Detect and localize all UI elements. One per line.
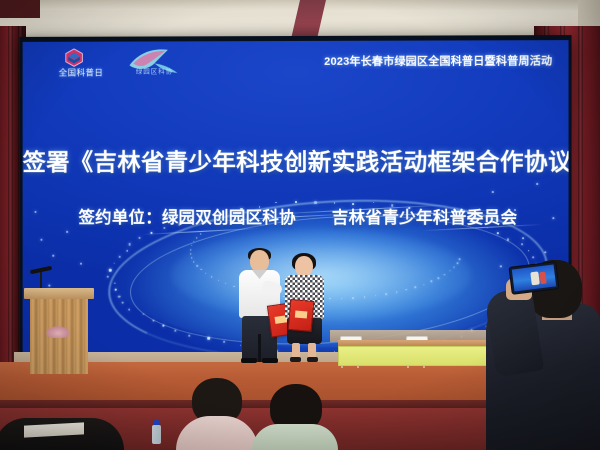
secondary-event-logo-text: 绿园区科协 [126,65,184,75]
screen-light-dot [453,266,454,267]
audience-shoulders [176,416,258,450]
screen-title-main: 签署《吉林省青少年科技创新实践活动框架合作协议》 [23,143,569,177]
screen-title-sub: 签约单位：绿园双创园区科协 吉林省青少年科普委员会 [23,204,569,228]
screen-header-row: 全国科普日 绿园区科协 2023年长春市绿园区全国科普日暨科普周活动 [23,40,569,86]
screen-light-dot [66,231,67,232]
screen-light-dot [396,291,397,292]
woman-head [295,256,313,277]
audience-shoulders [252,424,338,450]
screen-header-banner: 2023年长春市绿园区全国科普日暨科普周活动 [324,52,552,69]
audience-member-1 [176,378,258,450]
screen-light-dot [497,233,499,235]
screen-light-dot [196,237,197,238]
national-science-day-logo-text: 全国科普日 [42,66,119,78]
audience-photographer [486,258,600,450]
screen-light-dot [163,325,165,327]
screen-light-dot [193,241,194,242]
screen-light-dot [444,274,445,275]
screen-light-dot [208,337,211,340]
speaker-podium [24,288,94,374]
water-bottle [152,420,161,444]
screen-light-dot [109,269,112,272]
screen-light-dot [415,287,416,288]
screen-light-dot [188,335,190,337]
screen-light-dot [115,289,117,291]
bottle-body [152,425,161,444]
screen-light-dot [431,281,432,282]
screen-light-dot [375,295,376,296]
screen-light-dot [341,298,342,299]
cube-hexagon-icon [64,48,84,68]
screen-light-dot [457,263,458,264]
screen-light-dot [48,285,49,286]
screen-light-dot [521,243,523,245]
screen-light-dot [225,283,226,284]
screen-light-dot [352,297,353,298]
screen-light-dot [423,284,424,285]
screen-light-dot [536,183,538,185]
phone-screen [512,265,556,292]
screen-light-dot [200,269,201,270]
photographer-smartphone [508,261,559,295]
podium-emblem [46,326,70,338]
screen-light-dot [119,256,121,258]
screenshot-scene: 全国科普日 绿园区科协 2023年长春市绿园区全国科普日暨科普周活动 签署《吉林… [0,0,600,450]
man-head [250,250,269,272]
screen-light-dot [459,259,460,260]
screen-light-dot [80,263,82,265]
screen-light-dot [196,265,197,266]
screen-light-dot [295,201,297,203]
screen-light-dot [122,302,124,304]
screen-light-dot [223,341,225,343]
screen-light-dot [143,313,145,315]
screen-light-dot [218,279,219,280]
screen-light-dot [190,253,191,254]
screen-light-dot [386,293,387,294]
woman-shoe [290,357,301,362]
podium-top [24,288,94,299]
screen-light-dot [507,239,510,242]
screen-light-dot [191,245,192,246]
signing-unit-right: 吉林省青少年科普委员会 [332,209,518,227]
screen-light-dot [233,285,234,286]
screen-light-dot [52,255,53,256]
screen-light-dot [40,239,42,241]
man-shoe [262,358,278,363]
screen-light-dot [114,282,116,284]
man-leg-gap [258,334,261,362]
signing-unit-left: 签约单位：绿园双创园区科协 [79,209,296,227]
screen-light-dot [139,237,141,239]
screen-light-dot [492,191,494,193]
man-shoe [241,358,257,363]
screen-light-dot [211,276,212,277]
screen-light-dot [544,251,546,253]
audience-member-2 [252,384,338,450]
screen-light-dot [113,262,115,264]
screen-light-dot [175,330,177,332]
phone-screen-subject [530,271,540,285]
screen-light-dot [438,277,439,278]
screen-light-dot [449,270,450,271]
screen-light-streak [142,228,261,235]
screen-light-dot [128,243,131,246]
screen-light-dot [329,298,330,299]
screen-light-dot [205,273,206,274]
screen-light-dot [152,319,155,322]
screen-light-dot [200,233,201,234]
phone-screen-subject [539,272,546,285]
screen-light-dot [191,257,192,258]
screen-light-dot [190,249,191,250]
national-science-day-logo: 全国科普日 [42,48,119,80]
screen-light-dot [107,276,109,278]
screen-light-dot [522,237,524,239]
screen-light-dot [406,289,407,290]
screen-light-dot [364,296,365,297]
screen-light-dot [128,309,130,311]
screen-light-dot [127,250,129,252]
wall-panel-left [0,0,40,18]
screen-light-dot [193,261,194,262]
woman-shoe [307,357,318,362]
folder-seal [295,310,308,318]
signing-folder-right [288,299,315,332]
screen-light-dot [118,296,121,299]
table-cloth [338,346,488,366]
screen-light-dot [528,250,530,252]
signing-table [338,340,486,364]
